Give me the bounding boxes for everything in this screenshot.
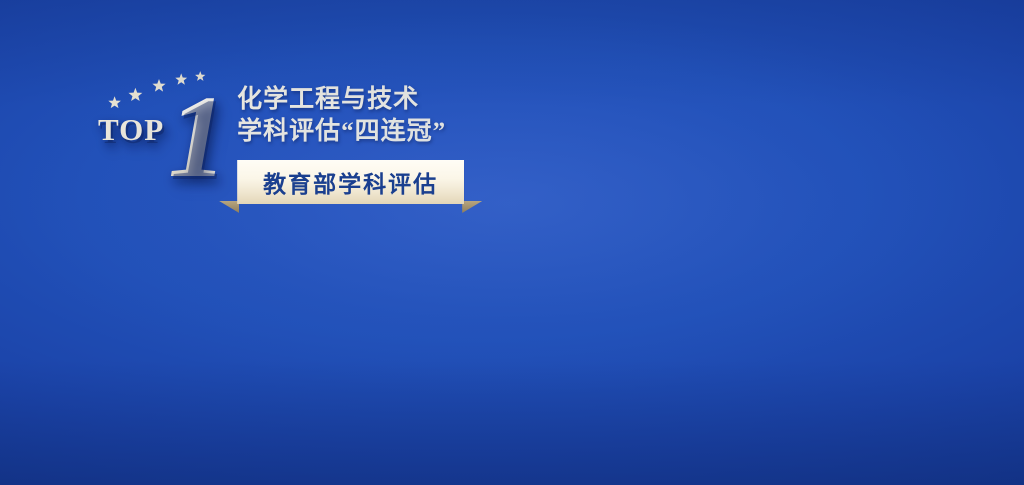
achievements-grid: TOP 1 化学工程与技术 学科评估“四连冠” 教育部学科评估 [0,0,1024,485]
rank-prefix-label: TOP [98,114,164,145]
ribbon-end-right [462,163,488,201]
poster-stage: TOP 1 化学工程与技术 学科评估“四连冠” 教育部学科评估 [0,0,1024,485]
achievement-cell-2: 3 rd 软科学科排名 位列世界三甲 [512,0,1024,243]
rank-badge: TOP 1 [98,78,227,196]
achievement-cell-3: 1 st 国家级教学成果奖 一等奖“五连冠” 国家级教学成果奖 [0,243,512,485]
achievement-text-column: 化学工程与技术 学科评估“四连冠” 教育部学科评估 [237,78,464,204]
award-ribbon: 教育部学科评估 [237,160,464,204]
headline-line-1: 化学工程与技术 [237,84,464,116]
achievement-cell-4: 1 st 国内首家通过英国化学工程师 学会最高级别专业认证 IChemE [512,243,1024,485]
ribbon-label: 教育部学科评估 [263,165,438,199]
ribbon-end-left [213,163,239,201]
ribbon-body: 教育部学科评估 [237,160,464,204]
ribbon-fold-right [462,201,482,213]
ribbon-fold-left [219,201,239,213]
achievement-top1-discipline-evaluation: TOP 1 化学工程与技术 学科评估“四连冠” 教育部学科评估 [98,78,464,204]
headline-line-2: 学科评估“四连冠” [237,116,464,148]
achievement-cell-1: TOP 1 化学工程与技术 学科评估“四连冠” 教育部学科评估 [0,0,512,243]
